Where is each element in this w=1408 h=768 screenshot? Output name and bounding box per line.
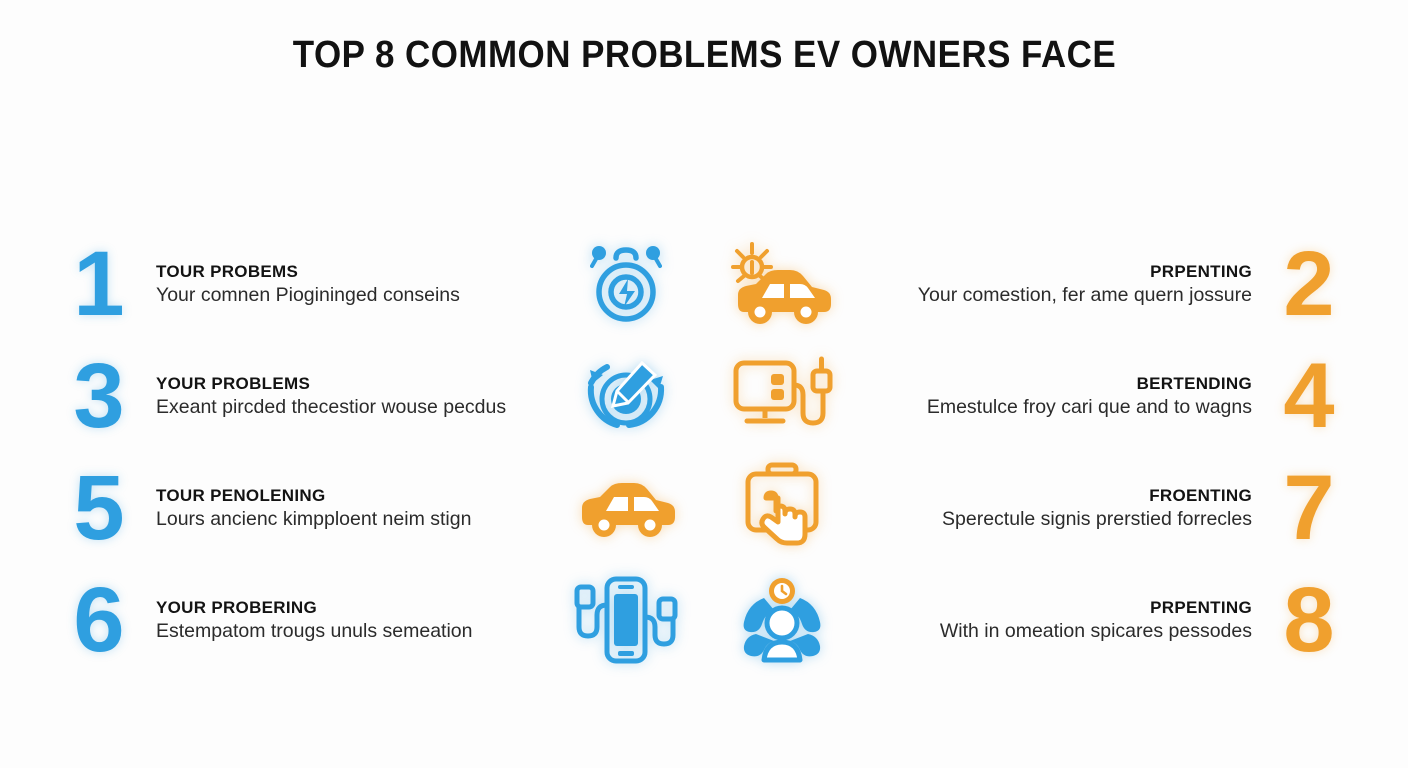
item-number: 2 xyxy=(1270,238,1348,330)
list-item: FROENTING Sperectule signis prerstied fo… xyxy=(724,452,1348,564)
item-heading: FROENTING xyxy=(858,485,1252,506)
item-heading: YOUR PROBERING xyxy=(156,597,550,618)
list-item: PRPENTING Your comestion, fer ame quern … xyxy=(724,228,1348,340)
smartphone-cables-icon xyxy=(568,570,684,670)
item-heading: PRPENTING xyxy=(858,261,1252,282)
item-text: TOUR PROBEMS Your comnen Piogininged con… xyxy=(138,261,568,308)
item-text: YOUR PROBLEMS Exeant pircded thecestior … xyxy=(138,373,568,420)
item-body: Your comnen Piogininged conseins xyxy=(156,283,550,308)
item-body: Emestulce froy cari que and to wagns xyxy=(858,395,1252,420)
item-body: Sperectule signis prerstied forrecles xyxy=(858,507,1252,532)
item-number: 1 xyxy=(60,238,138,330)
touchscreen-hand-icon xyxy=(724,458,840,558)
item-heading: BERTENDING xyxy=(858,373,1252,394)
item-heading: TOUR PENOLENING xyxy=(156,485,550,506)
support-agent-clock-icon xyxy=(724,570,840,670)
item-heading: TOUR PROBEMS xyxy=(156,261,550,282)
item-heading: YOUR PROBLEMS xyxy=(156,373,550,394)
item-number: 8 xyxy=(1270,574,1348,666)
list-item: 6 YOUR PROBERING Estempatom trougs unuls… xyxy=(60,564,684,676)
list-item: 1 TOUR PROBEMS Your comnen Piogininged c… xyxy=(60,228,684,340)
infographic-page: TOP 8 COMMON PROBLEMS EV OWNERS FACE 1 T… xyxy=(0,0,1408,768)
title-container: TOP 8 COMMON PROBLEMS EV OWNERS FACE xyxy=(0,34,1408,77)
item-body: With in omeation spicares pessodes xyxy=(858,619,1252,644)
item-body: Lours ancienc kimpploent neim stign xyxy=(156,507,550,532)
item-number: 6 xyxy=(60,574,138,666)
alarm-clock-lightning-icon xyxy=(568,234,684,334)
refresh-pencil-icon xyxy=(568,346,684,446)
list-item: 5 TOUR PENOLENING Lours ancienc kimpploe… xyxy=(60,452,684,564)
list-item: PRPENTING With in omeation spicares pess… xyxy=(724,564,1348,676)
item-text: BERTENDING Emestulce froy cari que and t… xyxy=(840,373,1270,420)
list-item: 3 YOUR PROBLEMS Exeant pircded thecestio… xyxy=(60,340,684,452)
item-number: 4 xyxy=(1270,350,1348,442)
item-body: Exeant pircded thecestior wouse pecdus xyxy=(156,395,550,420)
page-title: TOP 8 COMMON PROBLEMS EV OWNERS FACE xyxy=(292,34,1115,77)
charging-station-plug-icon xyxy=(724,346,840,446)
item-text: FROENTING Sperectule signis prerstied fo… xyxy=(840,485,1270,532)
item-text: TOUR PENOLENING Lours ancienc kimpploent… xyxy=(138,485,568,532)
car-warning-light-icon xyxy=(724,234,840,334)
item-number: 3 xyxy=(60,350,138,442)
item-text: YOUR PROBERING Estempatom trougs unuls s… xyxy=(138,597,568,644)
list-item: BERTENDING Emestulce froy cari que and t… xyxy=(724,340,1348,452)
car-icon xyxy=(568,458,684,558)
item-text: PRPENTING With in omeation spicares pess… xyxy=(840,597,1270,644)
items-grid: 1 TOUR PROBEMS Your comnen Piogininged c… xyxy=(60,228,1348,678)
item-body: Your comestion, fer ame quern jossure xyxy=(858,283,1252,308)
item-heading: PRPENTING xyxy=(858,597,1252,618)
item-number: 5 xyxy=(60,462,138,554)
item-number: 7 xyxy=(1270,462,1348,554)
item-body: Estempatom trougs unuls semeation xyxy=(156,619,550,644)
item-text: PRPENTING Your comestion, fer ame quern … xyxy=(840,261,1270,308)
